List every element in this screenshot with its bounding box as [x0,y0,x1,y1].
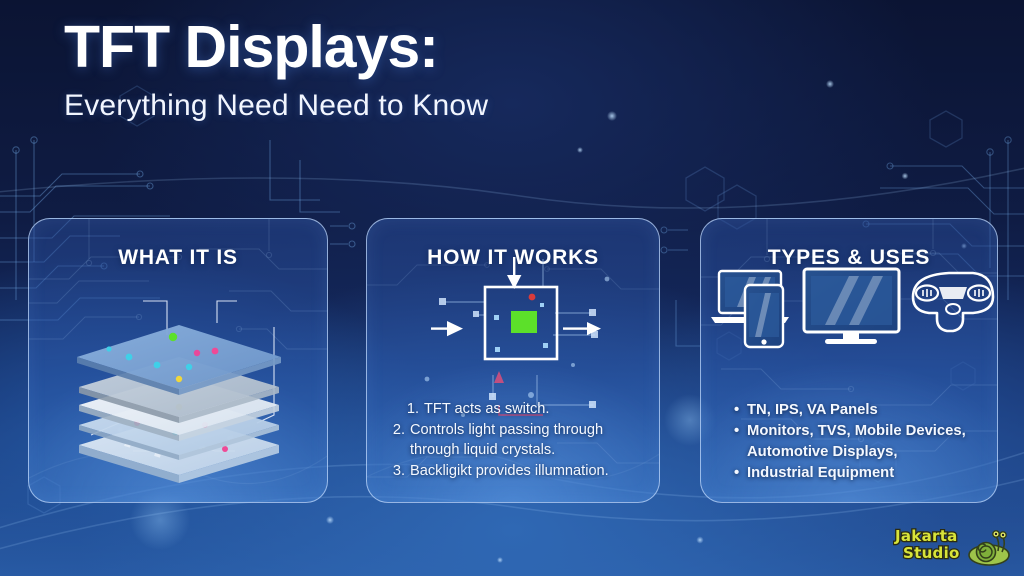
bullet-text: Automotive Displays, [747,442,1014,463]
list-item: 1. TFT acts as switch. [400,399,654,420]
list-item: through liquid crystals. [386,440,654,461]
panel-what-it-is[interactable]: WHAT IT IS [28,218,328,503]
step-number: 3. [386,461,405,482]
laptop-and-phone-icon [711,271,789,347]
step-text: TFT acts as switch. [424,399,654,420]
bullet-text: Monitors, TVS, Mobile Devices, [747,421,1014,442]
tv-monitor-icon [804,269,899,344]
header: TFT Displays: Everything Need Need to Kn… [64,18,764,123]
layer-stack-svg [29,219,328,503]
list-item: • Industrial Equipment [734,463,1014,484]
bullet-icon: • [734,463,747,484]
how-it-works-steps: 1. TFT acts as switch. 2. Controls light… [386,399,654,482]
brand-logo: Jakarta Studio [893,524,1013,568]
step-text: through liquid crystals. [410,440,654,461]
step-number: 2. [386,420,405,441]
step-number: 1. [400,399,419,420]
infographic-stage: TFT Displays: Everything Need Need to Kn… [0,0,1024,576]
tft-layer-stack-diagram: Glass Substrate Thin-Film Transictors (T… [29,219,327,502]
list-item: • Monitors, TVS, Mobile Devices, [734,421,1014,442]
snail-mascot-icon [969,531,1009,565]
step-text: Backligikt provides illumnation. [410,461,654,482]
logo-text-line2: Studio [903,544,960,562]
list-item: 3. Backligikt provides illumnation. [386,461,654,482]
bullet-icon: • [734,421,747,442]
bullet-text: TN, IPS, VA Panels [747,400,1014,421]
list-item: • TN, IPS, VA Panels [734,400,1014,421]
logo-text-line1: Jakarta [894,527,958,545]
car-dashboard-icon [913,273,993,331]
types-and-uses-bullets: • TN, IPS, VA Panels • Monitors, TVS, Mo… [734,400,1014,485]
step-number [386,440,405,461]
page-subtitle: Everything Need Need to Know [64,89,764,123]
list-item: • Automotive Displays, [734,442,1014,463]
bullet-icon: • [734,400,747,421]
bullet-text: Industrial Equipment [747,463,1014,484]
step-text: Controls light passing through [410,420,654,441]
page-title: TFT Displays: [64,18,764,77]
list-item: 2. Controls light passing through [386,420,654,441]
